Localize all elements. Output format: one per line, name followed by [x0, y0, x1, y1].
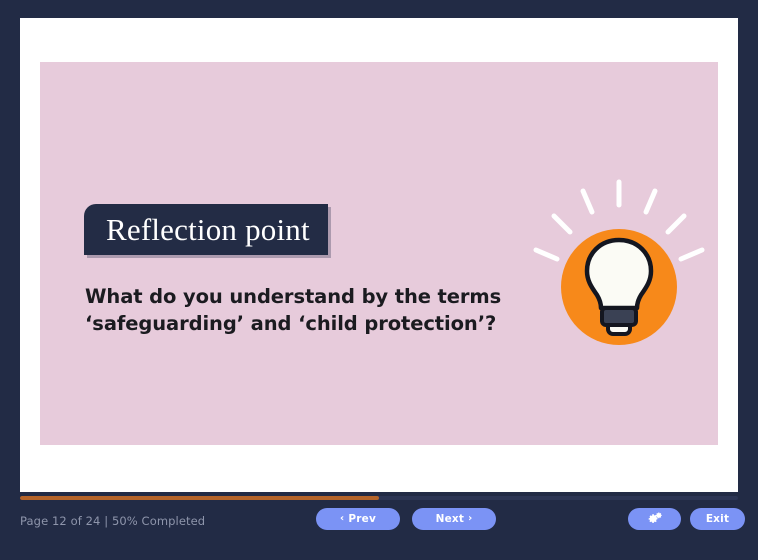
progress-track[interactable] — [20, 496, 738, 500]
prev-button-label: Prev — [348, 513, 376, 525]
lightbulb-illustration — [524, 174, 714, 364]
settings-button[interactable] — [628, 508, 681, 530]
chevron-left-icon: ‹ — [340, 514, 344, 524]
slide-title-banner: Reflection point — [84, 204, 328, 255]
bulb-glass — [587, 240, 651, 308]
navigation-buttons: ‹ Prev Next › — [316, 508, 496, 530]
next-button-label: Next — [436, 513, 465, 525]
slide-stage: Reflection point What do you understand … — [20, 18, 738, 492]
page-status-text: Page 12 of 24 | 50% Completed — [20, 514, 205, 528]
bulb-collar — [602, 308, 636, 325]
chevron-right-icon: › — [468, 514, 472, 524]
page-title: Reflection point — [106, 214, 310, 245]
presentation-player-window: Reflection point What do you understand … — [0, 0, 758, 560]
exit-button-label: Exit — [706, 513, 729, 525]
player-controls: Exit — [628, 508, 745, 530]
bulb-tip — [608, 325, 630, 334]
slide-canvas: Reflection point What do you understand … — [40, 62, 718, 445]
cogs-icon — [647, 512, 663, 526]
lightbulb-icon — [524, 174, 714, 364]
slide-body-text: What do you understand by the terms ‘saf… — [85, 284, 565, 337]
next-button[interactable]: Next › — [412, 508, 496, 530]
slide-body-line-2: ‘safeguarding’ and ‘child protection’? — [85, 311, 565, 338]
slide-body-line-1: What do you understand by the terms — [85, 284, 565, 311]
progress-fill — [20, 496, 379, 500]
exit-button[interactable]: Exit — [690, 508, 745, 530]
prev-button[interactable]: ‹ Prev — [316, 508, 400, 530]
